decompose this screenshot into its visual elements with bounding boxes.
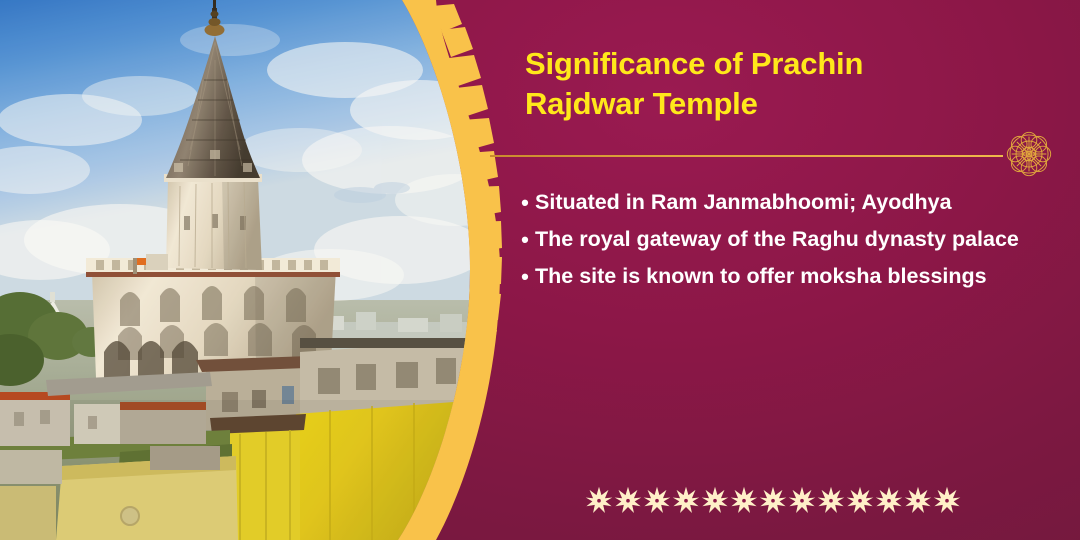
flower-star-icon — [730, 486, 758, 514]
list-item-text: The site is known to offer moksha blessi… — [535, 259, 1060, 294]
list-item-text: The royal gateway of the Raghu dynasty p… — [535, 222, 1060, 257]
bullet-dot-icon: • — [515, 185, 535, 220]
content-panel: Significance of Prachin Rajdwar Temple •… — [490, 0, 1080, 540]
flower-star-icon — [904, 486, 932, 514]
list-item: • The site is known to offer moksha bles… — [515, 259, 1060, 294]
photo-clip — [0, 0, 480, 540]
flower-star-icon — [817, 486, 845, 514]
list-item: • The royal gateway of the Raghu dynasty… — [515, 222, 1060, 257]
flower-star-icon — [875, 486, 903, 514]
list-item-text: Situated in Ram Janmabhoomi; Ayodhya — [535, 185, 1060, 220]
slide-canvas: Significance of Prachin Rajdwar Temple •… — [0, 0, 1080, 540]
mandala-rosette-icon — [1003, 128, 1055, 180]
flower-star-icon — [788, 486, 816, 514]
bullet-list: • Situated in Ram Janmabhoomi; Ayodhya •… — [515, 185, 1060, 297]
flower-star-icon — [614, 486, 642, 514]
flower-star-icon — [759, 486, 787, 514]
flower-star-icon — [846, 486, 874, 514]
flower-star-icon — [585, 486, 613, 514]
flower-star-icon — [643, 486, 671, 514]
title-divider — [490, 155, 1003, 157]
flower-divider — [585, 478, 985, 522]
flower-star-icon — [672, 486, 700, 514]
page-title: Significance of Prachin Rajdwar Temple — [525, 44, 1005, 123]
title-line-2: Rajdwar Temple — [525, 84, 1005, 124]
title-line-1: Significance of Prachin — [525, 44, 1005, 84]
bullet-dot-icon: • — [515, 222, 535, 257]
bullet-dot-icon: • — [515, 259, 535, 294]
flower-star-icon — [701, 486, 729, 514]
list-item: • Situated in Ram Janmabhoomi; Ayodhya — [515, 185, 1060, 220]
temple-photo — [0, 0, 480, 540]
flower-star-icon — [933, 486, 961, 514]
